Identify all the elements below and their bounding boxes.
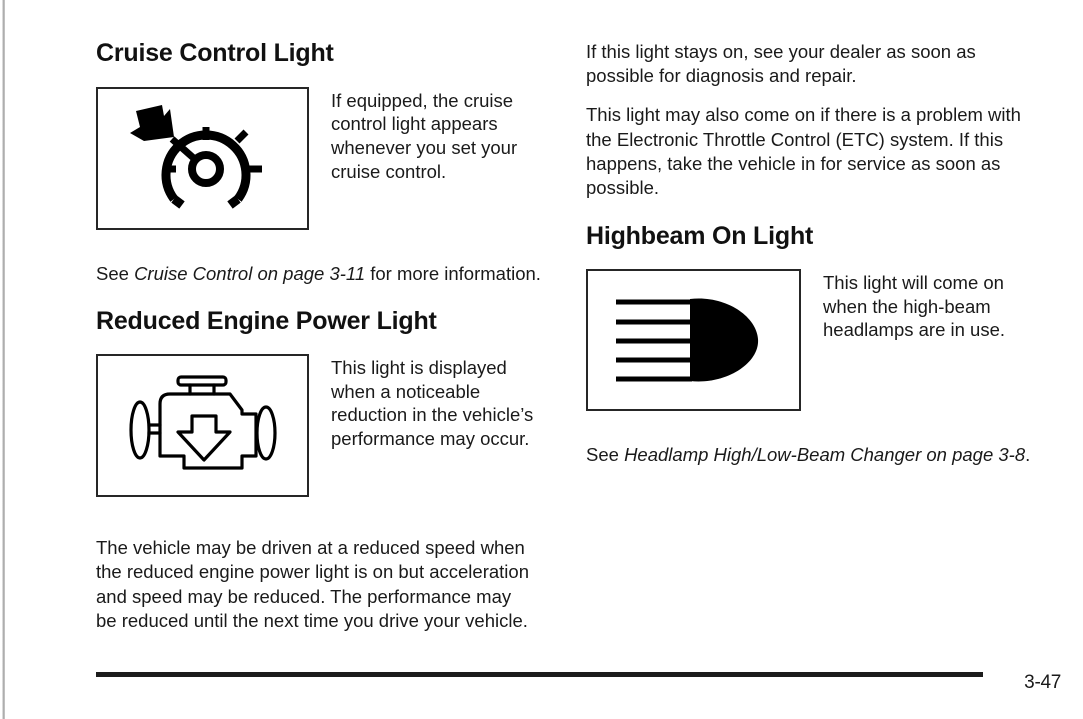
heading-reduced-engine-power-light: Reduced Engine Power Light [96,308,546,336]
page-left-edge-shadow [2,0,5,719]
cruise-control-speedometer-icon [118,103,288,213]
highbeam-description: This light will come on when the high-be… [823,269,1036,342]
etc-paragraph-1: If this light stays on, see your dealer … [586,40,1026,88]
left-column: Cruise Control Light [96,40,546,633]
highbeam-icon-box [586,269,801,411]
reduced-engine-power-description: This light is displayed when a noticeabl… [331,354,546,451]
heading-highbeam-on-light: Highbeam On Light [586,223,1036,251]
etc-paragraph-2: This light may also come on if there is … [586,103,1026,200]
cruise-control-icon-row: If equipped, the cruise control light ap… [96,87,546,230]
engine-with-down-arrow-icon [118,370,288,482]
page-number: 3-47 [1024,672,1061,694]
cruise-control-description-text: If equipped, the cruise control light ap… [331,89,546,184]
highbeam-description-text: This light will come on when the high-be… [823,271,1036,342]
reduced-engine-power-icon-row: This light is displayed when a noticeabl… [96,354,546,497]
see-reference-title[interactable]: Headlamp High/Low-Beam Changer on page 3… [624,444,1025,465]
footer-rule [96,672,983,677]
cruise-control-icon-box [96,87,309,230]
see-prefix: See [586,444,624,465]
heading-cruise-control-light: Cruise Control Light [96,40,546,68]
see-cruise-control-reference: See Cruise Control on page 3-11 for more… [96,262,546,286]
see-suffix: for more information. [365,263,541,284]
highbeam-headlamp-icon [606,285,782,395]
right-column: If this light stays on, see your dealer … [586,40,1036,467]
see-reference-title[interactable]: Cruise Control on page 3-11 [134,263,365,284]
reduced-engine-power-paragraph: The vehicle may be driven at a reduced s… [96,536,533,633]
see-suffix: . [1025,444,1030,465]
reduced-engine-power-icon-box [96,354,309,497]
reduced-engine-power-description-text: This light is displayed when a noticeabl… [331,356,546,451]
highbeam-icon-row: This light will come on when the high-be… [586,269,1036,411]
cruise-control-description: If equipped, the cruise control light ap… [331,87,546,184]
see-prefix: See [96,263,134,284]
see-headlamp-changer-reference: See Headlamp High/Low-Beam Changer on pa… [586,443,1036,467]
